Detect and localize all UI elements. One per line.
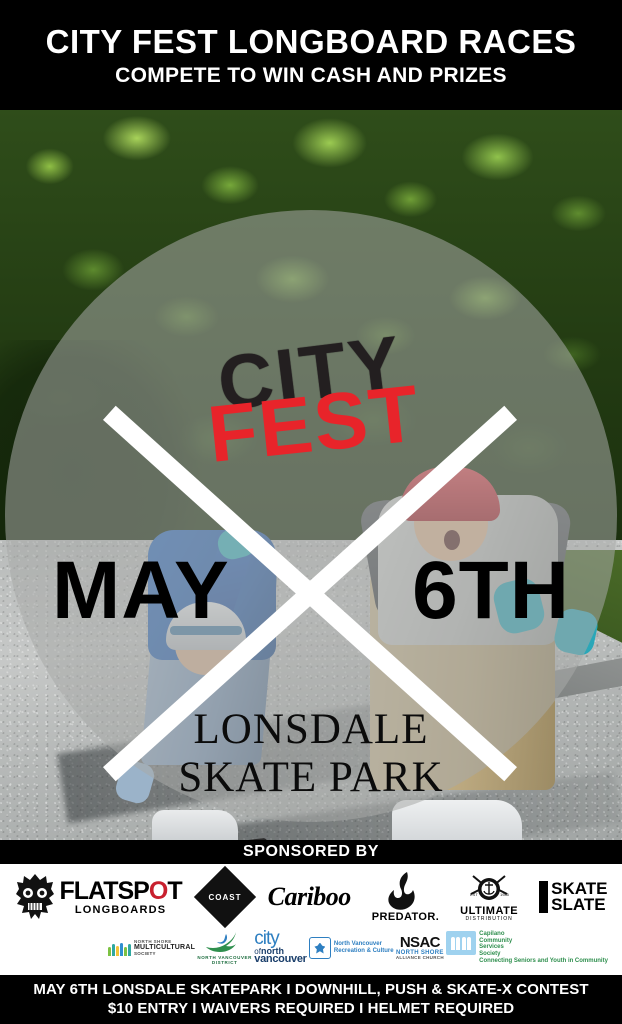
skater-front-shoe [392, 800, 522, 840]
venue-line-2: SKATE PARK [0, 754, 622, 802]
sponsor-logo-city-of-north-vancouver[interactable]: city ofnorth vancouver [254, 931, 306, 965]
eagle-icon [204, 931, 246, 955]
sponsor-logo-cariboo[interactable]: Cariboo [268, 882, 351, 912]
multicultural-figures-icon [108, 940, 131, 956]
venue-name: LONSDALE SKATE PARK [0, 706, 622, 802]
poster-title: CITY FEST LONGBOARD RACES [46, 25, 577, 58]
logo-word-fest: FEST [205, 377, 424, 471]
capilano-line-4: Society [479, 951, 608, 958]
sponsor-logo-north-shore-alliance-church[interactable]: NSAC NORTH SHORE ALLIANCE CHURCH [396, 935, 444, 961]
coast-diamond-icon: COAST [193, 866, 255, 928]
capilano-wordmark: Capilano Community Services Society Conn… [479, 931, 608, 965]
recreation-wordmark: North Vancouver Recreation & Culture [334, 941, 394, 955]
predator-label: PREDATOR. [372, 912, 439, 923]
sponsor-logo-flatspot[interactable]: FLATSPOT LONGBOARDS [15, 873, 182, 921]
poster-subtitle: COMPETE TO WIN CASH AND PRIZES [115, 65, 507, 86]
capilano-line-3: Services [479, 944, 608, 951]
footer-line-2: $10 ENTRY I WAIVERS REQUIRED I HELMET RE… [108, 1000, 514, 1019]
multicultural-line-3: SOCIETY [134, 952, 195, 957]
recreation-line-2: Recreation & Culture [334, 948, 394, 955]
hero-photo: CITY FEST MAY 6TH LONSDALE SKATE PARK [0, 110, 622, 840]
event-month: MAY [52, 550, 230, 632]
sponsor-row-community: NORTH SHORE MULTICULTURAL SOCIETY NORTH … [108, 924, 608, 972]
skate-slate-wordmark: SKATE SLATE [551, 881, 607, 913]
skate-slate-line-2: SLATE [551, 897, 607, 913]
city-fest-logo: CITY FEST [0, 338, 622, 473]
skate-slate-bar [539, 881, 548, 913]
sponsor-logo-multicultural-society[interactable]: NORTH SHORE MULTICULTURAL SOCIETY [108, 940, 195, 957]
cnv-vancouver-word: vancouver [254, 955, 306, 965]
flame-icon [385, 871, 425, 911]
event-day: 6TH [412, 550, 570, 632]
recreation-leaf-icon [309, 937, 331, 959]
flatspot-wordmark: FLATSPOT LONGBOARDS [60, 879, 182, 916]
venue-line-1: LONSDALE [0, 706, 622, 754]
nsac-mark: NSAC [400, 935, 440, 950]
sponsor-logo-district-north-vancouver[interactable]: NORTH VANCOUVER DISTRICT [197, 931, 252, 966]
sponsor-logo-skate-slate[interactable]: SKATE SLATE [539, 881, 607, 913]
tiki-mask-icon [15, 873, 55, 921]
sponsor-logo-coast[interactable]: COAST [203, 875, 247, 919]
sponsor-row-primary: FLATSPOT LONGBOARDS COAST Cariboo PREDAT… [0, 866, 622, 928]
event-poster: CITY FEST LONGBOARD RACES COMPETE TO WIN… [0, 0, 622, 1024]
footer-line-1: MAY 6TH LONSDALE SKATEPARK I DOWNHILL, P… [33, 981, 588, 1000]
recreation-line-1: North Vancouver [334, 941, 394, 948]
capilano-line-1: Capilano [479, 931, 608, 938]
sponsored-by-band: SPONSORED BY [0, 840, 622, 864]
svg-text:1985: 1985 [500, 892, 510, 897]
svg-text:EST: EST [470, 892, 478, 897]
district-caption-2: DISTRICT [212, 961, 238, 966]
coast-label: COAST [208, 893, 241, 902]
sponsor-logo-ultimate-distribution[interactable]: EST 1985 ULTIMATE DISTRIBUTION [460, 872, 518, 922]
sponsored-by-label: SPONSORED BY [243, 843, 379, 861]
poster-header: CITY FEST LONGBOARD RACES COMPETE TO WIN… [0, 0, 622, 110]
cariboo-script-label: Cariboo [268, 882, 351, 912]
skater-back-shoe [152, 810, 238, 840]
multicultural-wordmark: NORTH SHORE MULTICULTURAL SOCIETY [134, 940, 195, 957]
sponsor-logos-area: FLATSPOT LONGBOARDS COAST Cariboo PREDAT… [0, 864, 622, 975]
sponsor-logo-predator[interactable]: PREDATOR. [372, 871, 439, 923]
ultimate-sublabel: DISTRIBUTION [466, 917, 513, 922]
flatspot-tagline: LONGBOARDS [75, 905, 166, 916]
capilano-tagline: Connecting Seniors and Youth in Communit… [479, 958, 608, 965]
poster-footer: MAY 6TH LONSDALE SKATEPARK I DOWNHILL, P… [0, 975, 622, 1024]
capilano-line-2: Community [479, 938, 608, 945]
community-figures-icon [446, 931, 476, 955]
sponsor-logo-capilano-community-services[interactable]: Capilano Community Services Society Conn… [446, 931, 608, 965]
flatspot-name: FLATSPOT [60, 879, 182, 904]
anchor-wheel-icon: EST 1985 [467, 872, 511, 906]
sponsor-logo-nv-recreation-culture[interactable]: North Vancouver Recreation & Culture [309, 937, 394, 959]
nsac-line-2: ALLIANCE CHURCH [396, 956, 444, 961]
